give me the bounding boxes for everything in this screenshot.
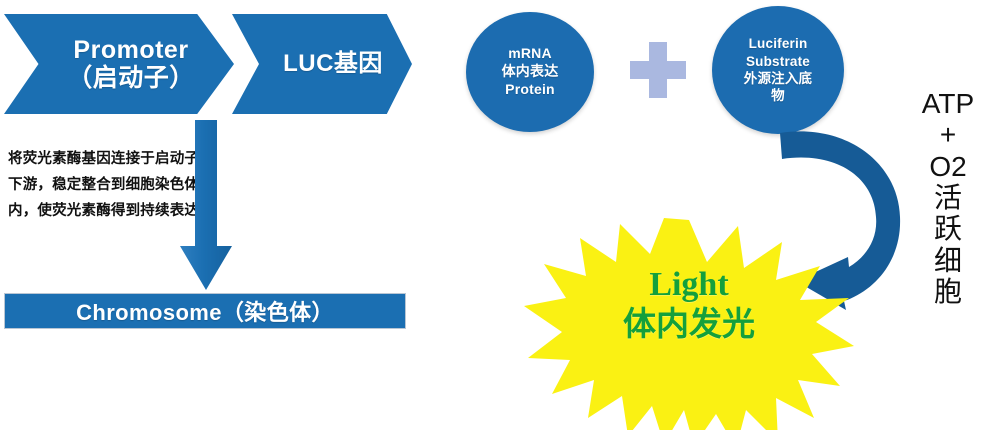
cofactor-line-3: 活 <box>934 182 962 213</box>
diagram-canvas: Promoter （启动子） LUC基因 将荧光素酶基因连接于启动子下游，稳定整… <box>0 0 1000 430</box>
chromosome-bar: Chromosome（染色体） <box>4 293 406 329</box>
promoter-label-cn: （启动子） <box>67 64 195 92</box>
luciferin-line-3: 外源注入底 <box>744 70 813 87</box>
luc-gene-label: LUC基因 <box>261 51 383 78</box>
chromosome-label: Chromosome（染色体） <box>76 295 334 327</box>
luciferin-circle-text: Luciferin Substrate 外源注入底 物 <box>744 35 813 104</box>
luciferin-line-4: 物 <box>744 87 813 104</box>
plus-icon <box>630 42 686 98</box>
cofactor-line-4: 跃 <box>934 213 962 244</box>
mrna-circle-text: mRNA 体内表达 Protein <box>502 45 559 99</box>
down-arrow-icon <box>178 120 234 292</box>
gene-construct-group: Promoter （启动子） LUC基因 <box>0 14 410 114</box>
mrna-line-2: 体内表达 <box>502 63 559 81</box>
cofactor-line-1: + <box>940 119 956 150</box>
cofactor-line-6: 胞 <box>934 276 962 307</box>
luciferin-line-2: Substrate <box>744 53 813 70</box>
light-label-cn: 体内发光 <box>524 305 854 344</box>
cofactor-line-5: 细 <box>934 245 962 276</box>
luc-gene-chevron: LUC基因 <box>232 14 412 114</box>
luciferin-substrate-circle: Luciferin Substrate 外源注入底 物 <box>712 6 844 134</box>
cofactor-stack: ATP + O2 活 跃 细 胞 <box>908 88 988 308</box>
promoter-chevron: Promoter （启动子） <box>4 14 234 114</box>
promoter-label-en: Promoter <box>67 36 195 64</box>
mrna-protein-circle: mRNA 体内表达 Protein <box>466 12 594 132</box>
luciferin-line-1: Luciferin <box>744 35 813 52</box>
mrna-line-1: mRNA <box>502 45 559 63</box>
light-label-en: Light <box>524 266 854 303</box>
cofactor-line-2: O2 <box>929 151 966 182</box>
promoter-label: Promoter （启动子） <box>43 36 195 92</box>
cofactor-line-0: ATP <box>922 88 974 119</box>
mrna-line-3: Protein <box>502 81 559 99</box>
light-label-group: Light 体内发光 <box>524 266 854 344</box>
